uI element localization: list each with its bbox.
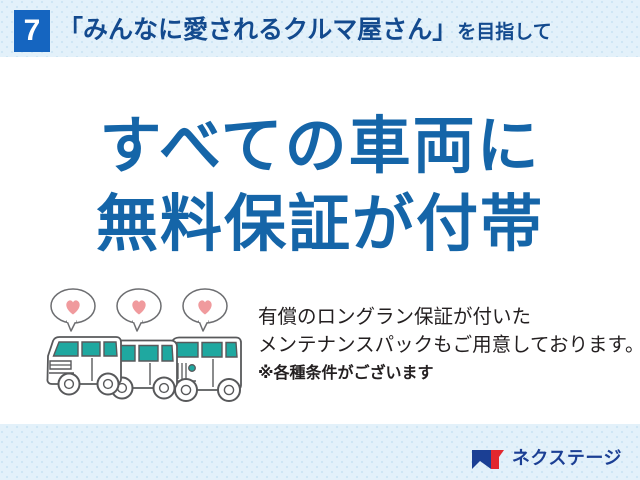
heart-bubble-middle [117, 289, 161, 331]
headline-line-2: 無料保証が付帯 [0, 185, 640, 263]
content-panel: すべての車両に 無料保証が付帯 [0, 57, 640, 424]
advertisement-root: 7 「みんなに愛されるクルマ屋さん」を目指して すべての車両に 無料保証が付帯 [0, 0, 640, 480]
header-bar: 7 「みんなに愛されるクルマ屋さん」を目指して [0, 0, 640, 57]
brand-name-label: ネクステージ [512, 450, 622, 468]
note-block: 有償のロングラン保証が付いた メンテナンスパックもご用意しております。 ※各種条… [258, 303, 633, 386]
header-title-main: 「みんなに愛されるクルマ屋さん」 [58, 16, 457, 44]
note-line-3-disclaimer: ※各種条件がございます [258, 359, 633, 386]
step-number-badge: 7 [14, 10, 50, 52]
note-line-2: メンテナンスパックもご用意しております。 [258, 331, 633, 359]
headline-line-1: すべての車両に [0, 107, 640, 185]
header-title-tail: を目指して [457, 22, 551, 43]
cars-illustration [40, 285, 255, 415]
note-line-1: 有償のロングラン保証が付いた [258, 303, 633, 331]
heart-bubble-left [51, 289, 95, 331]
header-title: 「みんなに愛されるクルマ屋さん」を目指して [58, 13, 552, 50]
nextage-n-logo-icon [471, 447, 505, 471]
lower-section: 有償のロングラン保証が付いた メンテナンスパックもご用意しております。 ※各種条… [0, 285, 640, 424]
heart-bubble-right [183, 289, 227, 331]
car-kei-van-left [47, 337, 121, 395]
step-number-label: 7 [24, 16, 41, 46]
headline-block: すべての車両に 無料保証が付帯 [0, 107, 640, 263]
brand-logo: ネクステージ [471, 446, 622, 472]
